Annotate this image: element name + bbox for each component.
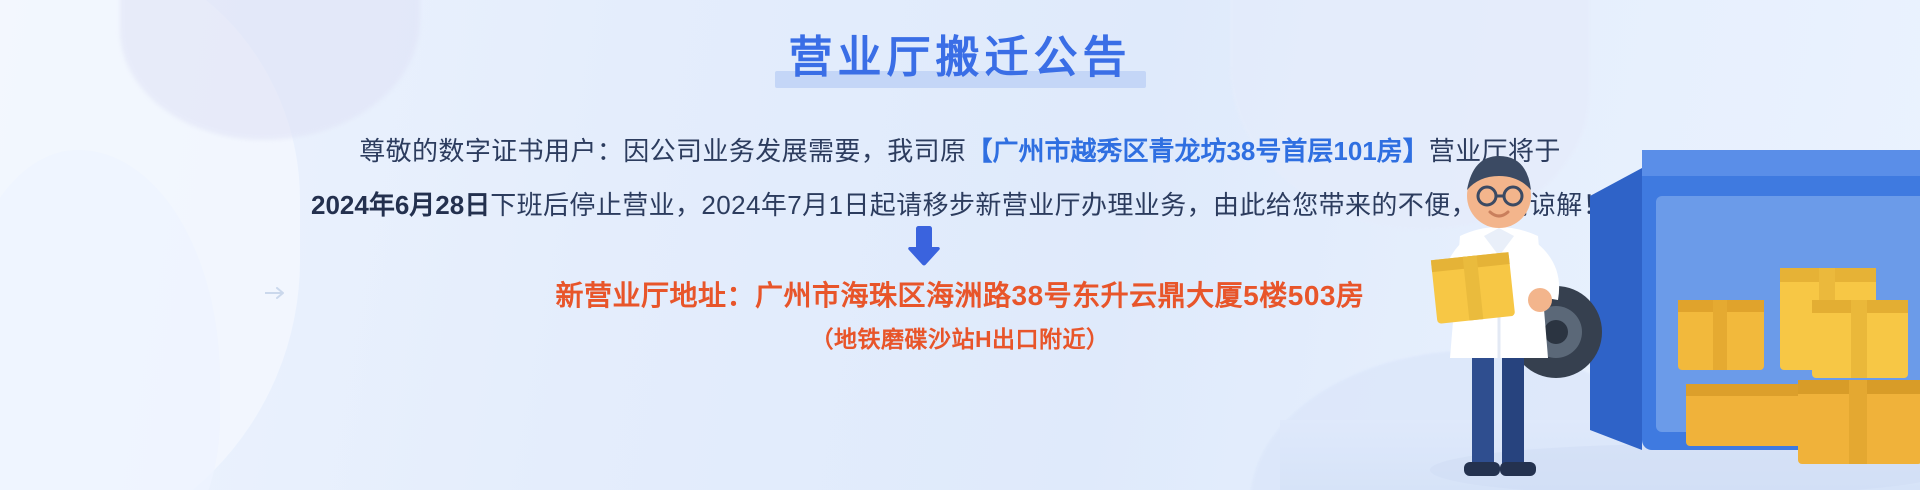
cardboard-boxes-icon xyxy=(1431,252,1515,324)
ground-boxes-icon xyxy=(1798,300,1920,464)
closing-date: 2024年6月28日 xyxy=(311,190,490,220)
page-title-text: 营业厅搬迁公告 xyxy=(789,33,1132,82)
relocation-announcement-banner: 营业厅搬迁公告 尊敬的数字证书用户：因公司业务发展需要，我司原【广州市越秀区青龙… xyxy=(0,0,1920,490)
arrow-down-icon xyxy=(907,226,941,266)
moving-truck-illustration xyxy=(1360,0,1920,490)
page-title: 营业厅搬迁公告 xyxy=(783,26,1138,90)
body-line-1-pre: 尊敬的数字证书用户：因公司业务发展需要，我司原 xyxy=(359,136,966,166)
